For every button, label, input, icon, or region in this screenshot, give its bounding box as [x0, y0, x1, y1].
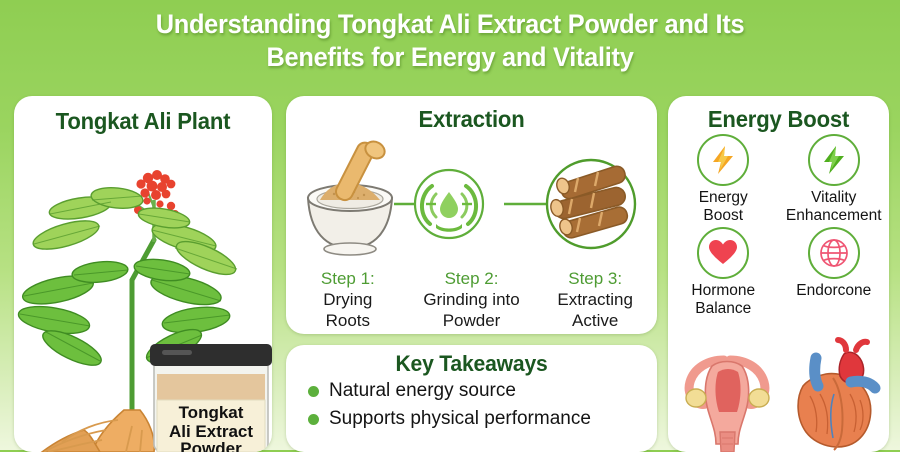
key-takeaways-list: Natural energy source Supports physical … — [308, 379, 648, 435]
anatomy-illustrations — [668, 334, 889, 452]
powder-jar-illustration: Tongkat Ali Extract Powder — [150, 344, 272, 452]
heart-anatomy-illustration — [798, 340, 875, 450]
benefit-icon-circle — [697, 134, 749, 186]
extraction-step-3: Step 3: Extracting Active Compounds — [533, 268, 657, 334]
step-2-description-line-1: Grinding into — [412, 289, 532, 310]
bullet-dot-icon — [308, 386, 319, 397]
key-takeaway-text: Supports physical performance — [329, 407, 591, 431]
benefit-icon-circle — [697, 227, 749, 279]
extraction-steps: Step 1: Drying Roots Step 2: Grinding in… — [286, 268, 657, 334]
step-2-number: Step 2: — [412, 268, 532, 289]
extraction-step-2: Step 2: Grinding into Powder — [410, 268, 534, 334]
panel-key-takeaways-title: Key Takeaways — [293, 351, 649, 377]
key-takeaway-text: Natural energy source — [329, 379, 516, 403]
panel-extraction-title: Extraction — [293, 106, 649, 133]
infographic-stage: Understanding Tongkat Ali Extract Powder… — [0, 0, 900, 450]
list-item: Natural energy source — [308, 379, 648, 403]
panel-extraction: Extraction — [286, 96, 657, 334]
step-3-number: Step 3: — [535, 268, 655, 289]
panel-energy-boost: Energy Boost Energy Boost — [668, 96, 889, 452]
tongkat-ali-root-illustration — [42, 410, 154, 452]
step-1-number: Step 1: — [288, 268, 408, 289]
benefit-energy-boost: Energy Boost — [668, 134, 779, 225]
benefit-vitality-enhancement: Vitality Enhancement — [779, 134, 890, 225]
benefit-label-line-1: Energy — [668, 189, 779, 207]
benefit-label-line-2: Enhancement — [779, 207, 890, 225]
panel-energy-boost-title: Energy Boost — [672, 106, 884, 133]
energy-boost-benefit-grid: Energy Boost Vitality Enhancement — [668, 134, 889, 320]
lightning-bolt-orange-icon — [710, 145, 736, 175]
page-title-line-1: Understanding Tongkat Ali Extract Powder… — [27, 8, 873, 41]
benefit-label-line-1: Hormone — [668, 282, 779, 300]
lightning-bolt-green-icon — [821, 145, 847, 175]
extraction-droplet-icon — [415, 170, 483, 238]
benefit-label-line-1: Vitality — [779, 189, 890, 207]
jar-label-line-1: Tongkat — [179, 403, 244, 422]
step-1-description-line-1: Drying — [288, 289, 408, 310]
benefit-icon-circle — [808, 134, 860, 186]
step-1-description-line-2: Roots — [288, 310, 408, 331]
list-item: Supports physical performance — [308, 407, 648, 431]
globe-icon — [819, 238, 849, 268]
ovary-right — [749, 389, 769, 407]
extraction-process-illustration — [286, 132, 657, 268]
heart-icon — [708, 239, 738, 267]
panel-tongkat-ali-plant: Tongkat Ali Plant — [14, 96, 272, 452]
benefit-label-line-2: Balance — [668, 300, 779, 318]
panel-key-takeaways: Key Takeaways Natural energy source Supp… — [286, 345, 657, 452]
benefit-label-line-1: Endorcone — [779, 282, 890, 300]
step-2-description-line-2: Powder — [412, 310, 532, 331]
ovary-left — [686, 389, 706, 407]
jar-label-line-3: Powder — [180, 439, 242, 452]
extraction-step-1: Step 1: Drying Roots — [286, 268, 410, 334]
benefit-icon-circle — [808, 227, 860, 279]
root-sticks-icon — [547, 160, 635, 248]
benefit-endorcone: Endorcone — [779, 227, 890, 318]
step-3-description-line-1: Extracting Active — [535, 289, 655, 331]
benefit-hormone-balance: Hormone Balance — [668, 227, 779, 318]
page-title: Understanding Tongkat Ali Extract Powder… — [27, 8, 873, 74]
tongkat-ali-plant-illustration: Tongkat Ali Extract Powder — [14, 130, 272, 452]
benefit-label-line-2: Boost — [668, 207, 779, 225]
uterus-anatomy-illustration — [686, 360, 769, 452]
mortar-and-pestle-icon — [308, 138, 392, 255]
bullet-dot-icon — [308, 414, 319, 425]
step-3-description-line-2: Compounds — [535, 331, 655, 334]
page-title-line-2: Benefits for Energy and Vitality — [27, 41, 873, 74]
